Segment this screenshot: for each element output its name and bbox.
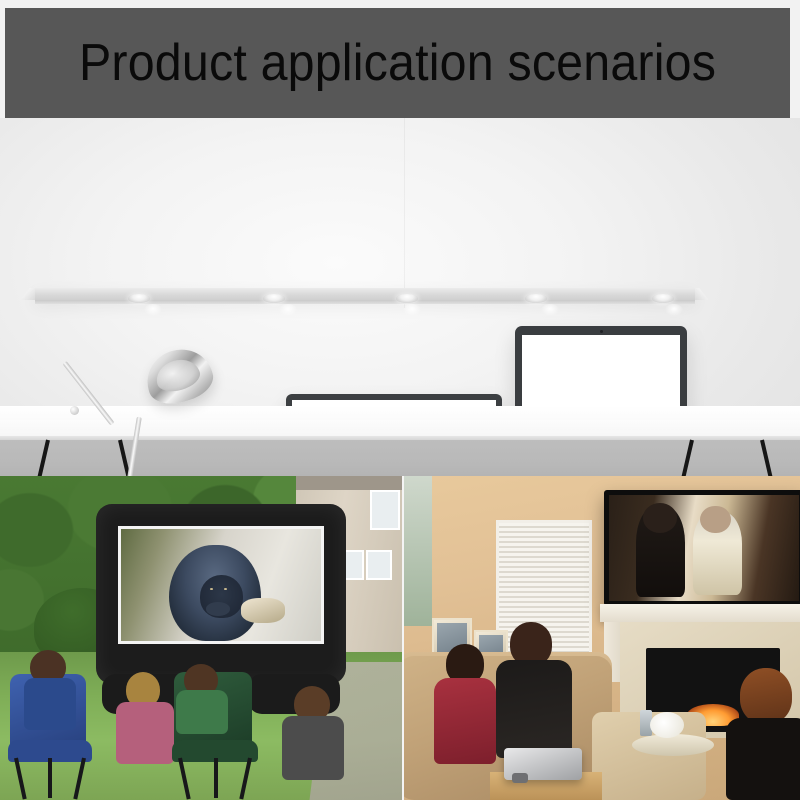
child-viewer [116,672,174,764]
serving-tray [632,734,714,756]
viewer-woman-black [496,622,572,758]
desk-workspace-panel [0,118,800,476]
living-room-panel [404,476,800,800]
child-body [116,702,174,764]
chair-leg [48,758,52,798]
lamp-reflector [152,355,203,396]
spotlight-glow [541,304,559,316]
chair-leg [178,758,191,800]
webcam-icon [600,330,603,333]
gorilla-figure [169,545,261,641]
projected-image-over-fireplace [604,490,800,606]
chair-leg [14,758,27,800]
product-scenarios-page: Product application scenarios [0,0,800,800]
gorilla-muzzle [206,602,230,615]
spotlight-icon [525,294,547,303]
movie-frame [609,495,799,601]
viewer-body [434,678,496,764]
house-window [366,550,392,580]
spotlight-glow [403,304,421,316]
child-body [24,678,76,730]
page-title: Product application scenarios [79,33,716,93]
viewer-body [726,718,800,800]
projector-lens-icon [512,773,528,783]
house-window [370,490,400,530]
flower-arrangement [650,712,684,738]
spotlight-glow [144,304,162,316]
chair-leg [239,758,252,800]
side-window [404,476,432,626]
child-viewer [176,664,230,724]
movie-man-head [700,506,730,534]
spotlight-icon [652,294,674,303]
spotlight-icon [128,294,150,303]
chair-leg [214,758,218,798]
viewer-woman-foreground [724,668,800,800]
child-viewer [22,650,78,720]
lamp-joint [70,406,79,415]
child-body [176,690,228,734]
page-header-banner: Product application scenarios [5,8,790,118]
outdoor-panel [0,476,402,800]
scenario-photo-row [0,476,800,800]
viewer-body [496,660,572,758]
wall-seam [404,118,405,308]
spotlight-icon [396,294,418,303]
fireplace-mantel [600,604,800,622]
gorilla-eye [210,588,213,590]
gorilla-food [241,598,285,623]
viewer-woman-red [434,644,496,764]
spotlight-icon [263,294,285,303]
child-body [282,716,344,780]
house-roof [296,476,402,490]
gorilla-eye [224,588,227,590]
child-viewer [282,686,344,780]
viewer-head [740,668,792,724]
inflatable-projection-screen [96,504,346,684]
projection-surface [118,526,324,644]
spotlight-glow [665,304,683,316]
spotlight-glow [279,304,297,316]
chair-leg [73,758,86,800]
